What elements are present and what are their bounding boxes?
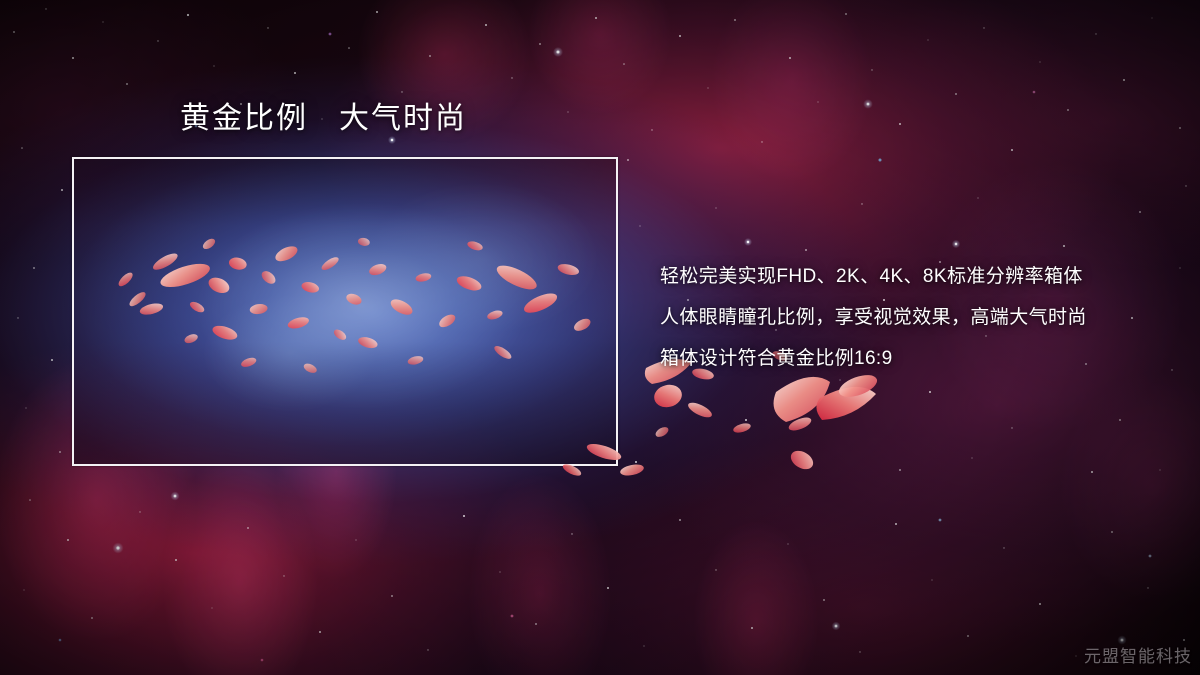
body-line-1: 轻松完美实现FHD、2K、4K、8K标准分辨率箱体 — [660, 256, 1180, 297]
frame-nebula-glow — [74, 159, 616, 464]
body-line-2: 人体眼睛瞳孔比例，享受视觉效果，高端大气时尚 — [660, 297, 1180, 338]
display-preview-frame[interactable] — [72, 157, 618, 466]
watermark-label: 元盟智能科技 — [1084, 642, 1192, 667]
display-preview-content — [74, 159, 616, 464]
page-title: 黄金比例 大气时尚 — [180, 100, 467, 138]
presentation-slide: 黄金比例 大气时尚 轻松完美实现FHD、2K、4K、8K标准分辨率箱体 人体眼睛… — [0, 0, 1200, 675]
body-copy-block: 轻松完美实现FHD、2K、4K、8K标准分辨率箱体 人体眼睛瞳孔比例，享受视觉效… — [660, 256, 1180, 379]
body-line-3: 箱体设计符合黄金比例16:9 — [660, 338, 1180, 379]
